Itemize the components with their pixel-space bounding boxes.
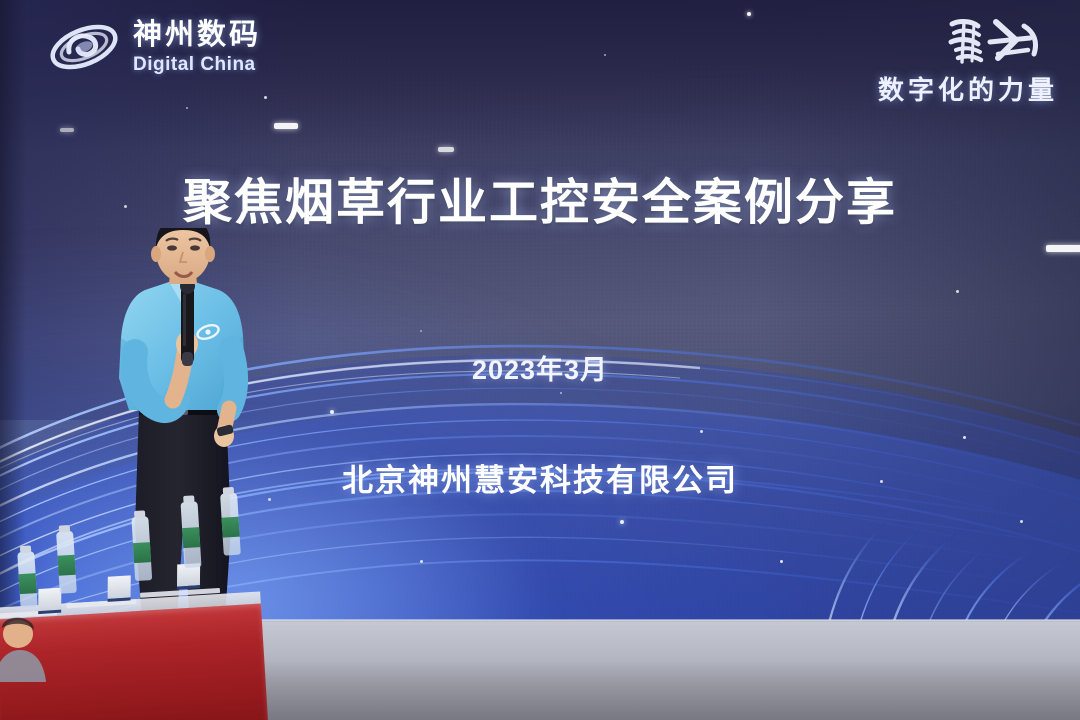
screen-left-edge [0,0,26,622]
light-dash [1046,245,1080,252]
brand-name-en: Digital China [133,55,261,74]
event-tagline: 数字化的力量 [878,70,1058,107]
water-bottle [17,551,37,608]
particle-dot [420,330,422,332]
seated-attendee [0,612,48,682]
particle-dot [264,96,267,99]
conference-photo: 神州数码 Digital China [0,0,1080,720]
particle-dot [560,392,562,394]
name-card [38,588,61,614]
light-dash [274,123,298,129]
particle-dot [330,410,334,414]
particle-dot [700,430,703,433]
name-card [108,575,131,601]
handheld-microphone-icon [180,278,195,366]
particle-dot [780,560,783,563]
digital-china-swirl-icon [45,18,123,76]
slide-title: 聚焦烟草行业工控安全案例分享 [0,178,1080,229]
particle-dot [1020,520,1023,523]
light-dash [60,128,74,132]
digital-china-logo: 神州数码 Digital China [45,18,261,76]
particle-dot [604,54,606,56]
brand-name-cn: 神州数码 [133,21,261,50]
particle-dot [747,12,751,16]
light-dash [438,147,454,152]
particle-dot [620,520,624,524]
particle-dot [963,436,966,439]
particle-dot [186,107,188,109]
event-logo: 数字化的力量 [878,14,1058,107]
particle-dot [956,290,959,293]
juhe-calligraphy-icon [938,14,1058,76]
particle-dot [420,560,423,563]
